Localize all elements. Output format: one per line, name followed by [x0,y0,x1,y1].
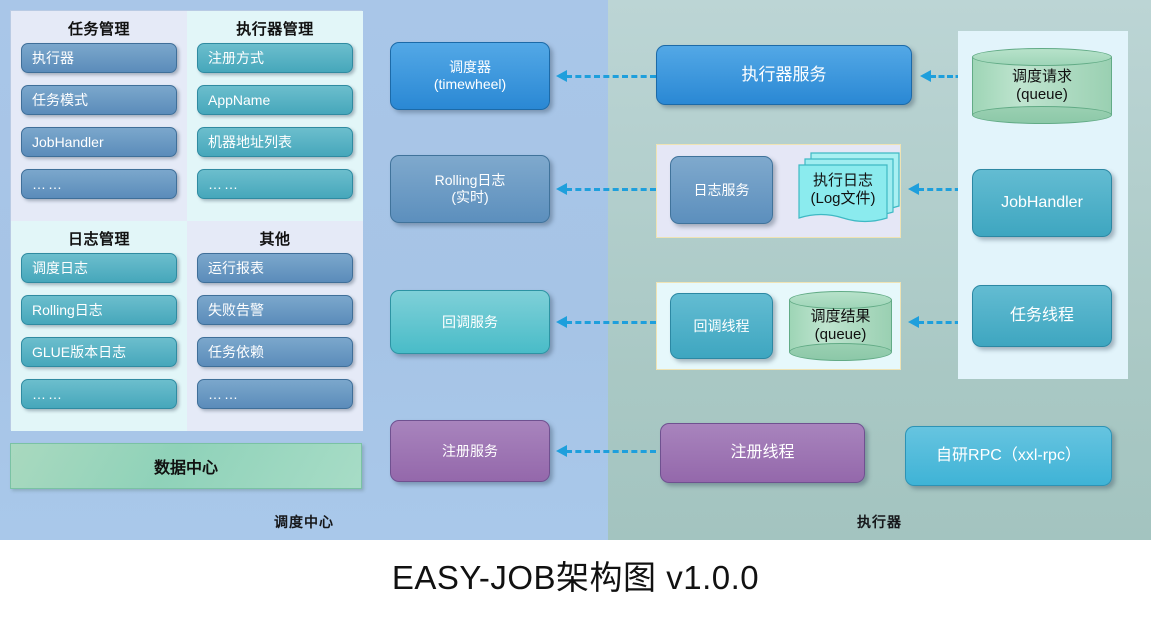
quadrant-log-management: 日志管理 调度日志 Rolling日志 GLUE版本日志 …… [11,221,187,431]
node-label: 回调服务 [442,314,498,331]
node-label: 注册服务 [442,443,498,460]
node-label: 回调线程 [694,318,750,335]
chip-label: 任务模式 [32,90,88,110]
management-panel: 任务管理 执行器 任务模式 JobHandler …… 执行器管理 注册方式 A… [10,10,362,430]
node-label: 调度结果 (queue) [789,291,892,361]
chip-schedule-log[interactable]: 调度日志 [21,253,177,283]
chip-machine-address-list[interactable]: 机器地址列表 [197,127,353,157]
scheduler-zone-label: 调度中心 [0,512,608,532]
node-label: 任务线程 [1010,307,1074,326]
chip-failure-alarm[interactable]: 失败告警 [197,295,353,325]
node-log-service[interactable]: 日志服务 [670,156,773,224]
node-callback-thread[interactable]: 回调线程 [670,293,773,359]
node-xxl-rpc[interactable]: 自研RPC（xxl-rpc） [905,426,1112,486]
node-executor-service[interactable]: 执行器服务 [656,45,912,105]
arrow-line [566,321,656,324]
chip-label: 任务依赖 [208,342,264,362]
chip-label: 注册方式 [208,48,264,68]
chip-task-mode[interactable]: 任务模式 [21,85,177,115]
node-register-service[interactable]: 注册服务 [390,420,550,482]
chip-task-dependency[interactable]: 任务依赖 [197,337,353,367]
chip-executor-more[interactable]: …… [197,169,353,199]
chip-register-mode[interactable]: 注册方式 [197,43,353,73]
quadrant-heading: 任务管理 [11,11,187,39]
chip-log-more[interactable]: …… [21,379,177,409]
chip-glue-version-log[interactable]: GLUE版本日志 [21,337,177,367]
chip-rolling-log[interactable]: Rolling日志 [21,295,177,325]
chip-task-more[interactable]: …… [21,169,177,199]
chip-label: 机器地址列表 [208,132,292,152]
node-label: 调度器 (timewheel) [434,59,506,92]
chip-appname[interactable]: AppName [197,85,353,115]
quadrant-other: 其他 运行报表 失败告警 任务依赖 …… [187,221,363,431]
arrow-executor-to-scheduler [556,70,656,82]
chip-label: 运行报表 [208,258,264,278]
arrow-callback-to-service [556,316,656,328]
arrow-line [566,75,656,78]
node-label: 日志服务 [694,182,750,199]
node-scheduler-timewheel[interactable]: 调度器 (timewheel) [390,42,550,110]
chip-other-more[interactable]: …… [197,379,353,409]
diagram-canvas: 调度中心 执行器 任务管理 执行器 任务模式 JobHandler …… 执行器… [0,0,1151,620]
node-label: 执行器服务 [742,65,827,85]
chip-label: 调度日志 [32,258,88,278]
quadrant-executor-management: 执行器管理 注册方式 AppName 机器地址列表 …… [187,11,363,221]
node-label: Rolling日志 (实时) [435,172,506,205]
node-label: 执行日志 (Log文件) [799,166,887,214]
node-register-thread[interactable]: 注册线程 [660,423,865,483]
chip-label: GLUE版本日志 [32,342,126,362]
quadrant-heading: 其他 [187,221,363,249]
chip-label: …… [208,386,240,402]
node-task-thread[interactable]: 任务线程 [972,285,1112,347]
quadrant-heading: 执行器管理 [187,11,363,39]
node-execution-log-files[interactable]: 执行日志 (Log文件) [789,150,903,232]
chip-run-report[interactable]: 运行报表 [197,253,353,283]
executor-zone-label: 执行器 [608,512,1151,532]
arrow-register-to-service [556,445,656,457]
node-rolling-log-realtime[interactable]: Rolling日志 (实时) [390,155,550,223]
chip-task-jobhandler[interactable]: JobHandler [21,127,177,157]
arrow-line [566,188,656,191]
arrow-log-to-rolling [556,183,656,195]
chip-label: AppName [208,92,270,108]
node-label: 注册线程 [730,444,794,463]
chip-label: 失败告警 [208,300,264,320]
node-label: 自研RPC（xxl-rpc） [936,447,1081,466]
chip-task-executor[interactable]: 执行器 [21,43,177,73]
node-label: JobHandler [1001,194,1083,213]
chip-label: 执行器 [32,48,74,68]
diagram-title: EASY-JOB架构图 v1.0.0 [0,545,1151,605]
arrow-line [566,450,656,453]
node-label: 调度请求 (queue) [972,48,1112,124]
data-center-label: 数据中心 [154,454,218,478]
chip-label: …… [32,386,64,402]
chip-label: JobHandler [32,134,104,150]
node-schedule-result-queue[interactable]: 调度结果 (queue) [789,291,892,361]
quadrant-task-management: 任务管理 执行器 任务模式 JobHandler …… [11,11,187,221]
node-jobhandler[interactable]: JobHandler [972,169,1112,237]
node-schedule-request-queue[interactable]: 调度请求 (queue) [972,48,1112,124]
node-callback-service[interactable]: 回调服务 [390,290,550,354]
chip-label: …… [208,176,240,192]
quadrant-heading: 日志管理 [11,221,187,249]
chip-label: Rolling日志 [32,300,103,320]
data-center-bar[interactable]: 数据中心 [10,443,362,489]
chip-label: …… [32,176,64,192]
